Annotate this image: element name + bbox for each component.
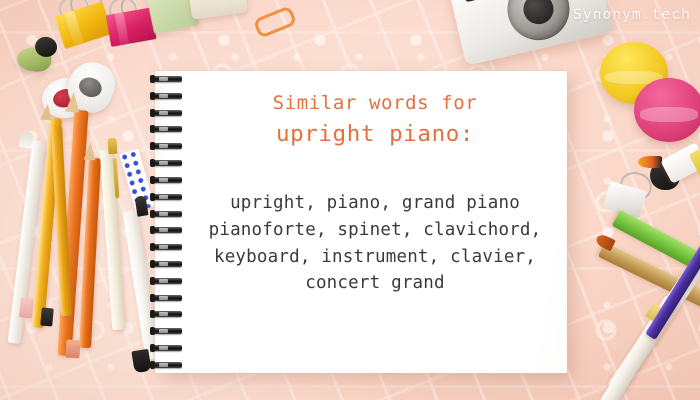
page-title-line-1: Similar words for <box>193 89 557 118</box>
notebook: Similar words for upright piano: upright… <box>155 71 567 373</box>
toucan-figurine-beak <box>638 156 662 168</box>
marker-white-left-cap <box>131 349 151 373</box>
synonym-list-line: upright, piano, grand piano <box>193 190 557 217</box>
pencil-yellow-tip <box>40 104 53 121</box>
bird-figurine <box>16 33 63 74</box>
screenshot-canvas: Similar words for upright piano: upright… <box>0 0 700 400</box>
synonym-list-line: keyboard, instrument, clavier, <box>193 244 557 271</box>
watermark-logo: Synonym.tech <box>573 7 691 23</box>
eraser-gray-center <box>76 74 104 100</box>
synonym-list: upright, piano, grand piano pianoforte, … <box>193 190 557 296</box>
pen-white-capped-tip <box>19 131 34 148</box>
pen-cream-button <box>107 138 117 155</box>
macaron-pink <box>634 78 700 142</box>
pencil-orange-tip <box>65 92 80 113</box>
page-title-line-2: upright piano: <box>193 119 557 151</box>
pencil-yellow-ferrule <box>40 308 54 327</box>
pencil-orange-small-tip <box>84 142 97 161</box>
synonym-list-line: concert grand <box>193 270 557 297</box>
synonym-list-line: pianoforte, spinet, clavichord, <box>193 217 557 244</box>
notebook-text-block: Similar words for upright piano: upright… <box>193 89 557 297</box>
